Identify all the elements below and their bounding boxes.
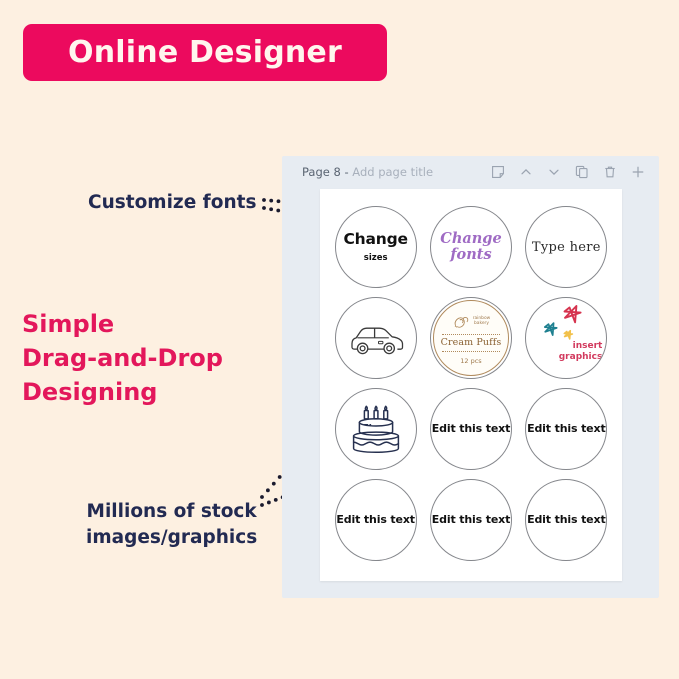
sticker-grid: Change sizes Change fonts Type here <box>320 189 622 581</box>
sticker-cell: Change sizes <box>328 202 423 293</box>
sticker-edit-text[interactable]: Edit this text <box>525 388 607 470</box>
annotation-millions-of-stock: Millions of stock images/graphics <box>86 499 257 552</box>
chevron-down-icon[interactable] <box>547 165 561 179</box>
stars-graphic-group: insert graphics <box>525 298 607 378</box>
sticker-insert-graphics[interactable]: insert graphics <box>525 297 607 379</box>
divider <box>442 351 500 352</box>
sticker-text-primary: Edit this text <box>336 513 414 526</box>
designer-panel: Page 8 - Add page title <box>282 156 659 598</box>
sticker-text-primary: Change <box>344 232 408 248</box>
divider <box>442 334 500 335</box>
page-title-placeholder: Add page title <box>352 165 433 179</box>
sticker-text-secondary: sizes <box>364 253 388 263</box>
sticker-cell: Edit this text <box>519 474 614 565</box>
design-canvas[interactable]: Change sizes Change fonts Type here <box>320 189 622 581</box>
sticker-edit-text[interactable]: Edit this text <box>335 479 417 561</box>
sticker-text-primary: Change fonts <box>440 231 501 263</box>
bakery-label-art: rainbow bakery Cream Puffs 12 pcs <box>433 300 509 376</box>
sticker-bakery-label[interactable]: rainbow bakery Cream Puffs 12 pcs <box>430 297 512 379</box>
sticker-cell <box>328 384 423 475</box>
sticker-text-primary: Type here <box>532 240 601 255</box>
sticker-text-primary: Edit this text <box>432 422 510 435</box>
sticker-cell: rainbow bakery Cream Puffs 12 pcs <box>423 293 518 384</box>
page-number-label: Page 8 - <box>302 165 352 179</box>
star-red-icon <box>565 306 581 322</box>
sticker-cell: Edit this text <box>519 384 614 475</box>
sticker-edit-text[interactable]: Edit this text <box>430 388 512 470</box>
birthday-cake-icon <box>346 402 406 456</box>
sticker-change-sizes[interactable]: Change sizes <box>335 206 417 288</box>
car-icon <box>348 319 404 357</box>
sticker-cell: Type here <box>519 202 614 293</box>
sticky-note-icon[interactable] <box>491 165 505 179</box>
sticker-cell <box>328 293 423 384</box>
page-toolbar: Page 8 - Add page title <box>282 156 659 188</box>
sticker-cell: Edit this text <box>328 474 423 565</box>
sticker-text-primary: Edit this text <box>432 513 510 526</box>
sticker-cake-graphic[interactable] <box>335 388 417 470</box>
page-title-field[interactable]: Page 8 - Add page title <box>302 165 433 179</box>
sticker-edit-text[interactable]: Edit this text <box>525 479 607 561</box>
page-title-badge: Online Designer <box>23 24 387 81</box>
sticker-cell: Edit this text <box>423 384 518 475</box>
duplicate-icon[interactable] <box>575 165 589 179</box>
sticker-text-primary: Edit this text <box>527 513 605 526</box>
sticker-cell: Edit this text <box>423 474 518 565</box>
toolbar-icon-group <box>491 165 645 179</box>
bakery-brand-text: rainbow bakery <box>473 316 491 327</box>
sticker-type-here[interactable]: Type here <box>525 206 607 288</box>
sticker-cell: Change fonts <box>423 202 518 293</box>
sticker-cell: insert graphics <box>519 293 614 384</box>
star-teal-icon <box>545 323 557 335</box>
bakery-quantity: 12 pcs <box>460 357 481 365</box>
chevron-up-icon[interactable] <box>519 165 533 179</box>
sticker-text-primary: insert graphics <box>559 341 603 362</box>
sticker-change-fonts[interactable]: Change fonts <box>430 206 512 288</box>
sticker-edit-text[interactable]: Edit this text <box>430 479 512 561</box>
annotation-customize-fonts: Customize fonts <box>88 190 256 216</box>
star-yellow-icon <box>565 331 573 339</box>
trash-icon[interactable] <box>603 165 617 179</box>
add-page-icon[interactable] <box>631 165 645 179</box>
headline-drag-and-drop: Simple Drag-and-Drop Designing <box>22 307 223 409</box>
page-title: Online Designer <box>68 35 342 70</box>
bakery-product-name: Cream Puffs <box>441 337 502 348</box>
sticker-car-graphic[interactable] <box>335 297 417 379</box>
sticker-text-primary: Edit this text <box>527 422 605 435</box>
croissant-icon <box>452 314 470 329</box>
